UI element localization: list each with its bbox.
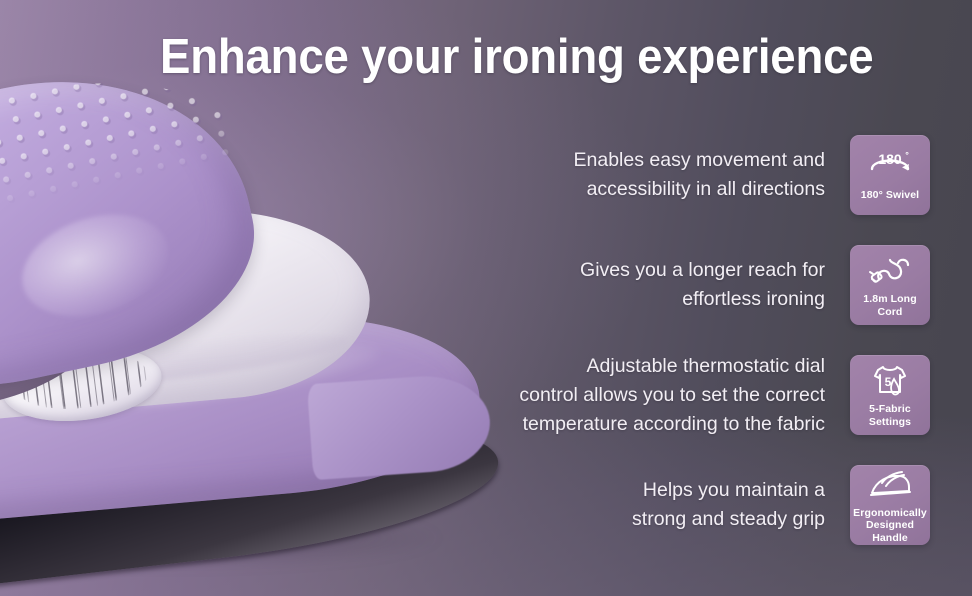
feature-description: Enables easy movement and accessibility … — [430, 146, 850, 204]
feature-description: Helps you maintain a strong and steady g… — [430, 476, 850, 534]
clothes-iron-icon — [866, 465, 914, 503]
feature-description-line: Helps you maintain a — [430, 476, 825, 505]
feature-description-line: Gives you a longer reach for — [430, 256, 825, 285]
feature-row: Enables easy movement and accessibility … — [430, 120, 930, 230]
feature-description-line: control allows you to set the correct — [430, 381, 825, 410]
power-cord-icon — [867, 251, 913, 289]
feature-list: Enables easy movement and accessibility … — [430, 120, 930, 560]
feature-row: Helps you maintain a strong and steady g… — [430, 450, 930, 560]
feature-badge-fabric-settings: 5 5-Fabric Settings — [850, 355, 930, 435]
product-feature-banner: Enhance your ironing experience Enables … — [0, 0, 972, 596]
feature-description-line: temperature according to the fabric — [430, 410, 825, 439]
feature-badge-handle: Ergonomically Designed Handle — [850, 465, 930, 545]
feature-badge-label: 1.8m Long Cord — [853, 293, 927, 318]
page-title: Enhance your ironing experience — [160, 27, 895, 87]
feature-badge-label: 5-Fabric Settings — [853, 403, 927, 428]
feature-row: Gives you a longer reach for effortless … — [430, 230, 930, 340]
feature-description-line: Enables easy movement and — [430, 146, 825, 175]
tshirt-fabric-settings-icon: 5 — [869, 361, 911, 399]
feature-badge-label: 180° Swivel — [861, 189, 919, 202]
feature-description-line: Adjustable thermostatic dial — [430, 352, 825, 381]
svg-text:°: ° — [905, 150, 909, 160]
feature-description-line: accessibility in all directions — [430, 175, 825, 204]
feature-badge-cord: 1.8m Long Cord — [850, 245, 930, 325]
feature-description: Adjustable thermostatic dial control all… — [430, 352, 850, 439]
feature-description-line: strong and steady grip — [430, 505, 825, 534]
feature-row: Adjustable thermostatic dial control all… — [430, 340, 930, 450]
feature-description-line: effortless ironing — [430, 285, 825, 314]
feature-badge-swivel: 180 ° 180° Swivel — [850, 135, 930, 215]
svg-text:180: 180 — [878, 151, 902, 167]
rotation-180-icon: 180 ° — [865, 147, 915, 185]
feature-badge-label: Ergonomically Designed Handle — [853, 507, 927, 545]
feature-description: Gives you a longer reach for effortless … — [430, 256, 850, 314]
